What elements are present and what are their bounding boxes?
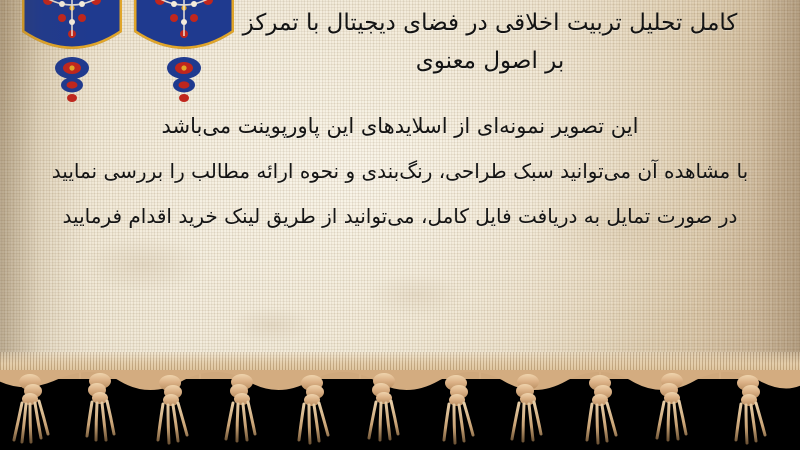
slide-title-line-2: بر اصول معنوی <box>180 42 800 80</box>
slide-body-line-2: با مشاهده آن می‌توانید سبک طراحی، رنگ‌بن… <box>8 149 792 194</box>
slide-body-line-1: این تصویر نمونه‌ای از اسلایدهای این پاور… <box>8 104 792 149</box>
slide-body: این تصویر نمونه‌ای از اسلایدهای این پاور… <box>8 104 792 239</box>
carpet-knotted-fringe <box>0 370 800 450</box>
persian-carpet-medallion-icon <box>18 0 126 104</box>
slide-title-line-1: کامل تحلیل تربیت اخلاقی در فضای دیجیتال … <box>180 4 800 42</box>
slide-title: کامل تحلیل تربیت اخلاقی در فضای دیجیتال … <box>180 4 800 80</box>
slide-body-line-3: در صورت تمایل به دریافت فایل کامل، می‌تو… <box>8 194 792 239</box>
slide-canvas: کامل تحلیل تربیت اخلاقی در فضای دیجیتال … <box>0 0 800 450</box>
